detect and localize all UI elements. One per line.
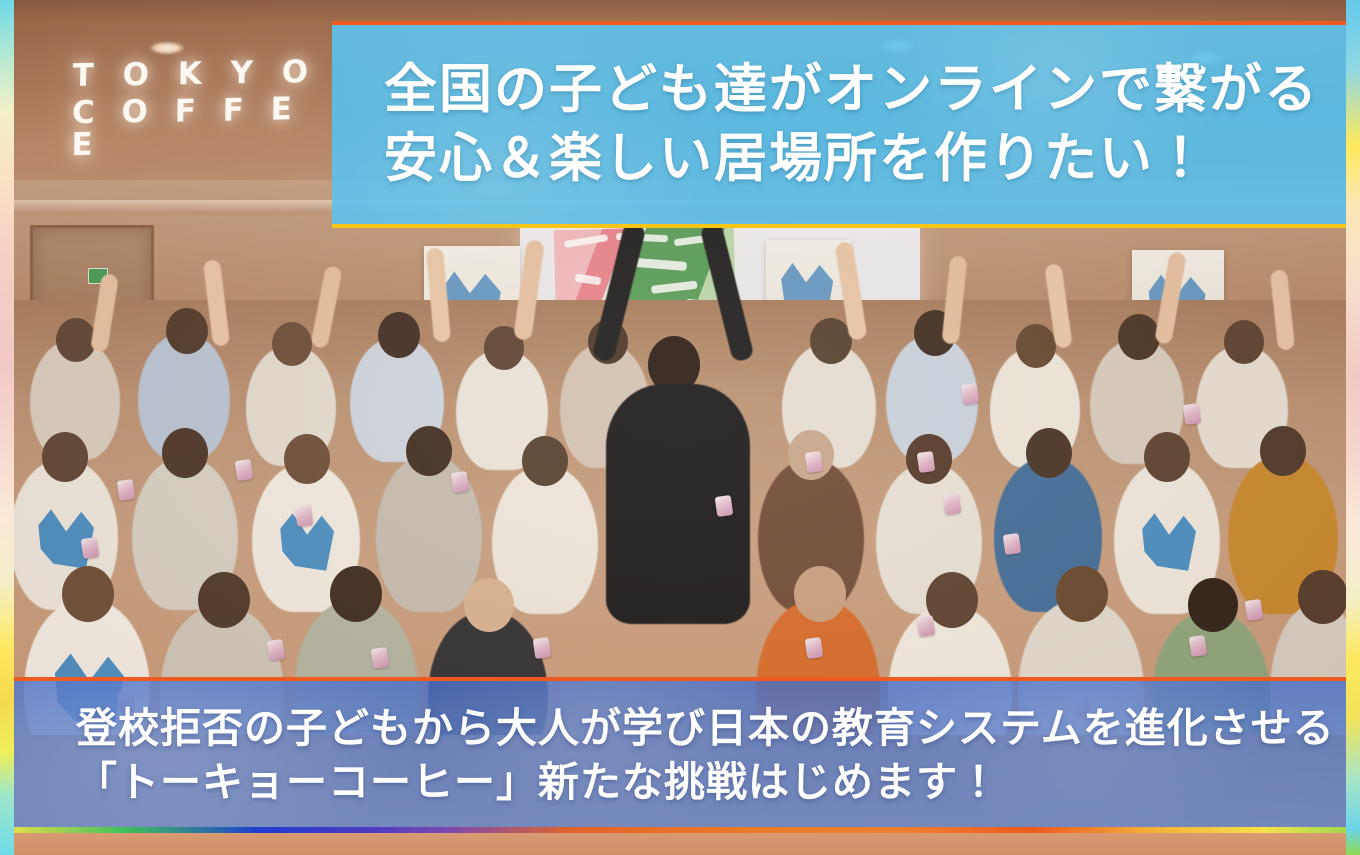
ceiling-spot-light [150,42,184,54]
held-card [1189,635,1208,657]
person-head [198,572,250,628]
person-head [794,566,846,622]
person-head [378,312,420,358]
person-head [1056,566,1108,622]
held-card [81,537,100,559]
caption-line-2: 「トーキョーコーヒー」新たな挑戦はじめます！ [0,755,1360,809]
wall-lettering-line-1: T O K Y O [72,56,323,93]
person-head [284,434,330,484]
person-head [1026,428,1072,478]
footer-caption-band: 登校拒否の子どもから大人が学び日本の教育システムを進化させる！ 「トーキョーコー… [0,677,1360,829]
person-head [810,318,852,364]
person-head [926,572,978,628]
person-head [272,322,312,366]
held-card [943,493,962,515]
held-card [1245,599,1264,621]
person-head [406,426,452,476]
person-head [1260,426,1306,476]
person-head [330,566,382,622]
held-card [961,383,980,405]
held-card [917,615,936,637]
held-card [235,459,254,481]
held-card [117,479,136,501]
held-card [715,495,734,517]
person-head [1144,432,1190,482]
hero-banner: T O K Y O C O F F E E 全国の子ども達がオンラインで繋がる … [0,0,1360,855]
held-card [805,451,824,473]
person-head [42,432,88,482]
held-card [451,471,470,493]
held-card [371,647,390,669]
person-head [522,436,568,486]
headline-line-1: 全国の子ども達がオンラインで繋がる [332,56,1360,125]
person-head [464,578,514,632]
person-head [1298,570,1348,624]
person-head [1016,324,1056,368]
held-card [295,505,314,527]
tokyo-coffee-wall-lettering: T O K Y O C O F F E E [71,56,323,162]
caption-line-1: 登校拒否の子どもから大人が学び日本の教育システムを進化させる！ [0,701,1360,755]
held-card [267,639,286,661]
headline-line-2: 安心＆楽しい居場所を作りたい！ [332,125,1360,194]
held-card [533,637,552,659]
person-head [166,308,208,354]
held-card [1003,533,1022,555]
floor-strip [0,833,1360,855]
headline-card: 全国の子ども達がオンラインで繋がる 安心＆楽しい居場所を作りたい！ [332,21,1360,228]
person-head [1188,578,1238,632]
held-card [805,637,824,659]
held-card [1183,403,1202,425]
person-head [56,318,96,362]
person-head [62,566,114,622]
person-head [1118,314,1160,360]
person-head [162,428,208,478]
held-card [917,451,936,473]
wall-lettering-line-2: C O F F E E [71,92,322,161]
person-head [1224,320,1264,364]
